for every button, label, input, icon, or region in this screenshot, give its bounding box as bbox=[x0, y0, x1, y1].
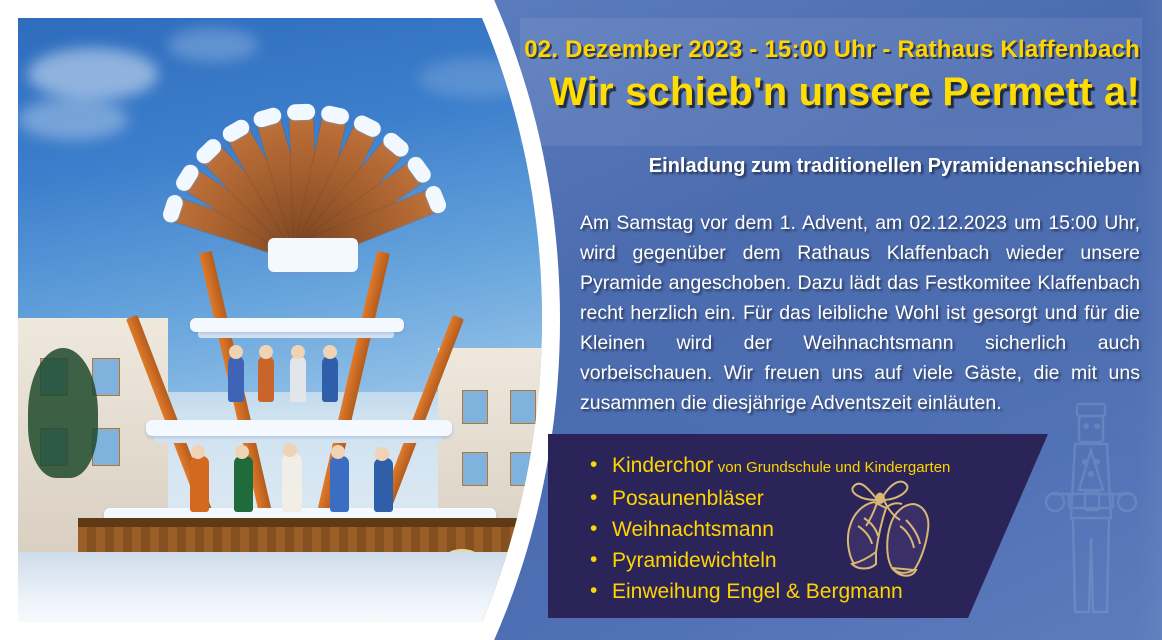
program-list-item: Einweihung Engel & Bergmann bbox=[586, 576, 1016, 607]
pyramid-figurine bbox=[234, 456, 253, 512]
figurine-head bbox=[375, 447, 389, 461]
snow-cap bbox=[190, 318, 404, 332]
pyramid-photo bbox=[0, 0, 600, 640]
event-description-paragraph: Am Samstag vor dem 1. Advent, am 02.12.2… bbox=[580, 208, 1140, 418]
program-list-item: Kinderchor von Grundschule und Kindergar… bbox=[586, 450, 1016, 483]
pyramid-figurine bbox=[190, 456, 209, 512]
program-item-label: Pyramidewichteln bbox=[612, 549, 777, 572]
pyramid-figurine bbox=[330, 456, 349, 512]
figurine-head bbox=[191, 445, 205, 459]
figurine-head bbox=[229, 345, 243, 359]
cloud bbox=[168, 28, 258, 62]
snow-cap bbox=[146, 420, 452, 436]
cloud bbox=[28, 48, 158, 100]
figurine-head bbox=[291, 345, 305, 359]
event-description: Am Samstag vor dem 1. Advent, am 02.12.2… bbox=[580, 208, 1140, 418]
pyramid-figurine bbox=[374, 458, 393, 512]
event-kicker: 02. Dezember 2023 - 15:00 Uhr - Rathaus … bbox=[524, 36, 1140, 64]
event-poster: 02. Dezember 2023 - 15:00 Uhr - Rathaus … bbox=[0, 0, 1162, 640]
miner-figure-icon bbox=[1045, 398, 1137, 628]
figurine-head bbox=[259, 345, 273, 359]
figurine-head bbox=[235, 445, 249, 459]
pyramid-figurine bbox=[282, 454, 302, 512]
bells-icon bbox=[820, 468, 950, 580]
event-subtitle: Einladung zum traditionellen Pyramidenan… bbox=[649, 155, 1140, 178]
program-item-label: Posaunenbläser bbox=[612, 487, 764, 510]
program-list: Kinderchor von Grundschule und Kindergar… bbox=[586, 450, 1016, 607]
program-item-label: Einweihung Engel & Bergmann bbox=[612, 580, 903, 603]
pyramid-figurine bbox=[322, 356, 338, 402]
program-list-item: Weihnachtsmann bbox=[586, 514, 1016, 545]
page-title: Wir schieb'n unsere Permett a! bbox=[549, 70, 1140, 115]
program-list-item: Pyramidewichteln bbox=[586, 545, 1016, 576]
program-item-label: Weihnachtsmann bbox=[612, 518, 774, 541]
figurine-head bbox=[331, 445, 345, 459]
figurine-head bbox=[323, 345, 337, 359]
pyramid-figurine bbox=[290, 356, 306, 402]
pyramid-figurine bbox=[258, 356, 274, 402]
photo-content bbox=[18, 18, 578, 622]
figurine-head bbox=[283, 443, 297, 457]
pyramid-figurine bbox=[228, 356, 244, 402]
cloud bbox=[18, 98, 128, 140]
program-item-label: Kinderchor bbox=[612, 454, 714, 477]
program-list-item: Posaunenbläser bbox=[586, 483, 1016, 514]
